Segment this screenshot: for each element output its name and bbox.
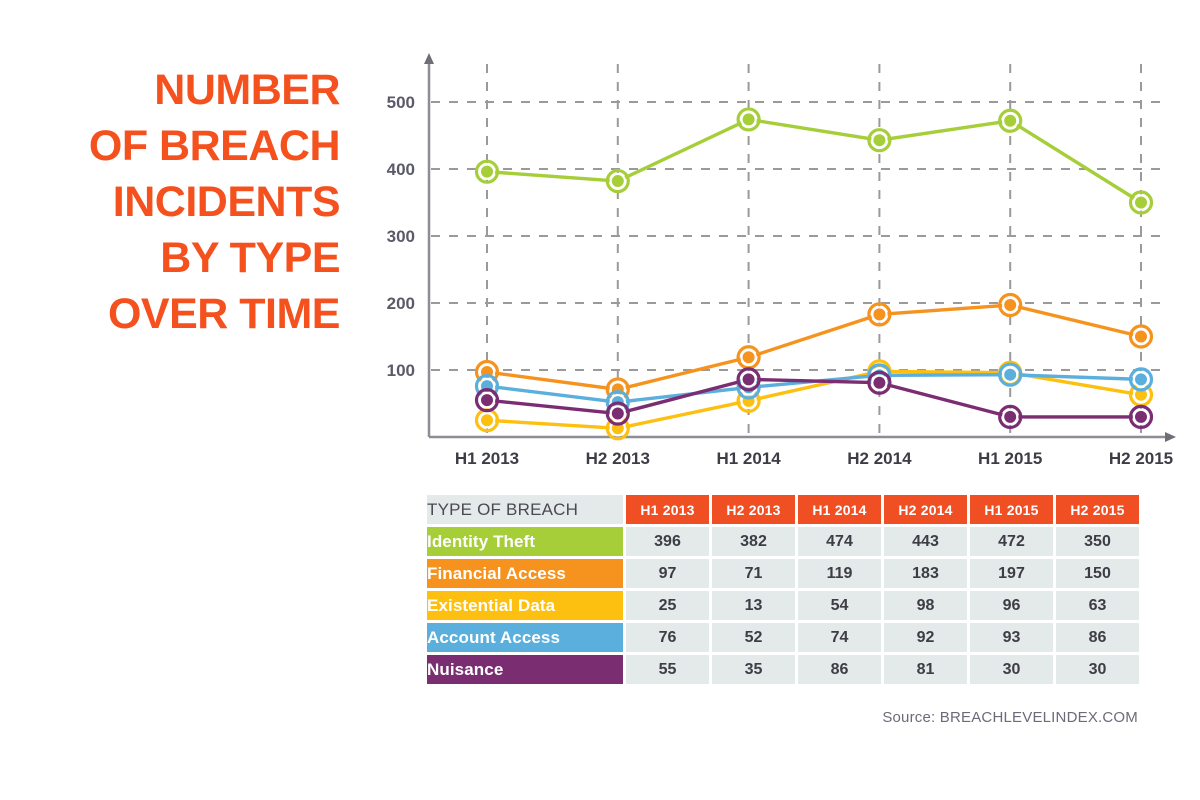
data-point-existential-data [477, 410, 498, 431]
table-cell: 30 [970, 655, 1053, 684]
data-point-identity-theft [1131, 192, 1152, 213]
page-title-line-1: NUMBER [40, 62, 340, 118]
chart-y-tick-labels: 100200300400500 [387, 93, 415, 380]
data-point-nuisance [738, 369, 759, 390]
series-line-identity-theft [487, 119, 1141, 202]
table-cell: 74 [798, 623, 881, 652]
table-cell: 93 [970, 623, 1053, 652]
x-tick-label: H1 2014 [716, 449, 781, 468]
table-cell: 197 [970, 559, 1053, 588]
column-header-type-of-breach: TYPE OF BREACH [427, 495, 623, 524]
marker-center [612, 175, 624, 187]
marker-center [1135, 331, 1147, 343]
column-header-h1-2015: H1 2015 [970, 495, 1053, 524]
table-cell: 382 [712, 527, 795, 556]
data-point-nuisance [477, 390, 498, 411]
table-cell: 30 [1056, 655, 1139, 684]
table-cell: 54 [798, 591, 881, 620]
data-point-identity-theft [477, 161, 498, 182]
chart-series-layer [477, 109, 1152, 439]
table-cell: 25 [626, 591, 709, 620]
table-cell: 96 [970, 591, 1053, 620]
marker-center [1135, 197, 1147, 209]
table-header-row: TYPE OF BREACH H1 2013 H2 2013 H1 2014 H… [427, 495, 1139, 524]
y-axis-arrow-icon [424, 53, 434, 64]
marker-center [1004, 369, 1016, 381]
table-cell: 81 [884, 655, 967, 684]
marker-center [1135, 411, 1147, 423]
column-header-h2-2013: H2 2013 [712, 495, 795, 524]
table-cell: 183 [884, 559, 967, 588]
page-title: NUMBER OF BREACH INCIDENTS BY TYPE OVER … [40, 62, 340, 342]
chart-canvas: 100200300400500 H1 2013H2 2013H1 2014H2 … [370, 50, 1180, 470]
marker-center [481, 414, 493, 426]
marker-center [1004, 115, 1016, 127]
marker-center [743, 113, 755, 125]
page-title-line-5: OVER TIME [40, 286, 340, 342]
breach-data-table: TYPE OF BREACH H1 2013 H2 2013 H1 2014 H… [424, 492, 1140, 687]
data-point-nuisance [869, 372, 890, 393]
table-cell: 97 [626, 559, 709, 588]
page-title-line-3: INCIDENTS [40, 174, 340, 230]
data-point-nuisance [607, 403, 628, 424]
row-label-existential-data: Existential Data [427, 591, 623, 620]
table-cell: 71 [712, 559, 795, 588]
data-point-financial-access [738, 347, 759, 368]
table-cell: 52 [712, 623, 795, 652]
marker-center [743, 373, 755, 385]
table-cell: 13 [712, 591, 795, 620]
x-tick-label: H1 2013 [455, 449, 519, 468]
column-header-h1-2013: H1 2013 [626, 495, 709, 524]
marker-center [873, 377, 885, 389]
table-cell: 92 [884, 623, 967, 652]
table-cell: 76 [626, 623, 709, 652]
source-note: Source: BREACHLEVELINDEX.COM [882, 709, 1138, 726]
y-tick-label: 400 [387, 160, 415, 179]
data-point-nuisance [1131, 406, 1152, 427]
data-point-identity-theft [738, 109, 759, 130]
table-row: Account Access765274929386 [427, 623, 1139, 652]
marker-center [743, 351, 755, 363]
data-point-financial-access [1000, 295, 1021, 316]
data-point-identity-theft [869, 130, 890, 151]
column-header-h1-2014: H1 2014 [798, 495, 881, 524]
x-axis-arrow-icon [1165, 432, 1176, 442]
table-cell: 119 [798, 559, 881, 588]
x-tick-label: H2 2015 [1109, 449, 1173, 468]
x-tick-label: H1 2015 [978, 449, 1042, 468]
y-tick-label: 100 [387, 361, 415, 380]
table-row: Nuisance553586813030 [427, 655, 1139, 684]
marker-center [873, 134, 885, 146]
marker-center [612, 408, 624, 420]
line-chart: 100200300400500 H1 2013H2 2013H1 2014H2 … [370, 50, 1180, 470]
table-cell: 86 [1056, 623, 1139, 652]
table-row: Existential Data251354989663 [427, 591, 1139, 620]
data-point-account-access [1000, 364, 1021, 385]
marker-center [873, 308, 885, 320]
column-header-h2-2015: H2 2015 [1056, 495, 1139, 524]
marker-center [1004, 299, 1016, 311]
table-cell: 98 [884, 591, 967, 620]
x-tick-label: H2 2013 [586, 449, 650, 468]
table-cell: 35 [712, 655, 795, 684]
table-cell: 350 [1056, 527, 1139, 556]
chart-x-tick-labels: H1 2013H2 2013H1 2014H2 2014H1 2015H2 20… [455, 449, 1173, 468]
y-tick-label: 200 [387, 294, 415, 313]
y-tick-label: 300 [387, 227, 415, 246]
data-point-account-access [1131, 369, 1152, 390]
data-point-identity-theft [607, 171, 628, 192]
marker-center [1004, 411, 1016, 423]
column-header-h2-2014: H2 2014 [884, 495, 967, 524]
marker-center [481, 394, 493, 406]
table-cell: 150 [1056, 559, 1139, 588]
page-title-line-2: OF BREACH [40, 118, 340, 174]
table-cell: 63 [1056, 591, 1139, 620]
row-label-account-access: Account Access [427, 623, 623, 652]
y-tick-label: 500 [387, 93, 415, 112]
row-label-financial-access: Financial Access [427, 559, 623, 588]
data-point-nuisance [1000, 406, 1021, 427]
table-row: Financial Access9771119183197150 [427, 559, 1139, 588]
row-label-nuisance: Nuisance [427, 655, 623, 684]
table-row: Identity Theft396382474443472350 [427, 527, 1139, 556]
table-cell: 443 [884, 527, 967, 556]
marker-center [481, 166, 493, 178]
page-title-line-4: BY TYPE [40, 230, 340, 286]
table-cell: 396 [626, 527, 709, 556]
x-tick-label: H2 2014 [847, 449, 912, 468]
table-cell: 86 [798, 655, 881, 684]
data-point-financial-access [1131, 326, 1152, 347]
table-cell: 474 [798, 527, 881, 556]
data-point-financial-access [869, 304, 890, 325]
table-cell: 472 [970, 527, 1053, 556]
marker-center [1135, 373, 1147, 385]
data-point-identity-theft [1000, 110, 1021, 131]
table-cell: 55 [626, 655, 709, 684]
row-label-identity-theft: Identity Theft [427, 527, 623, 556]
